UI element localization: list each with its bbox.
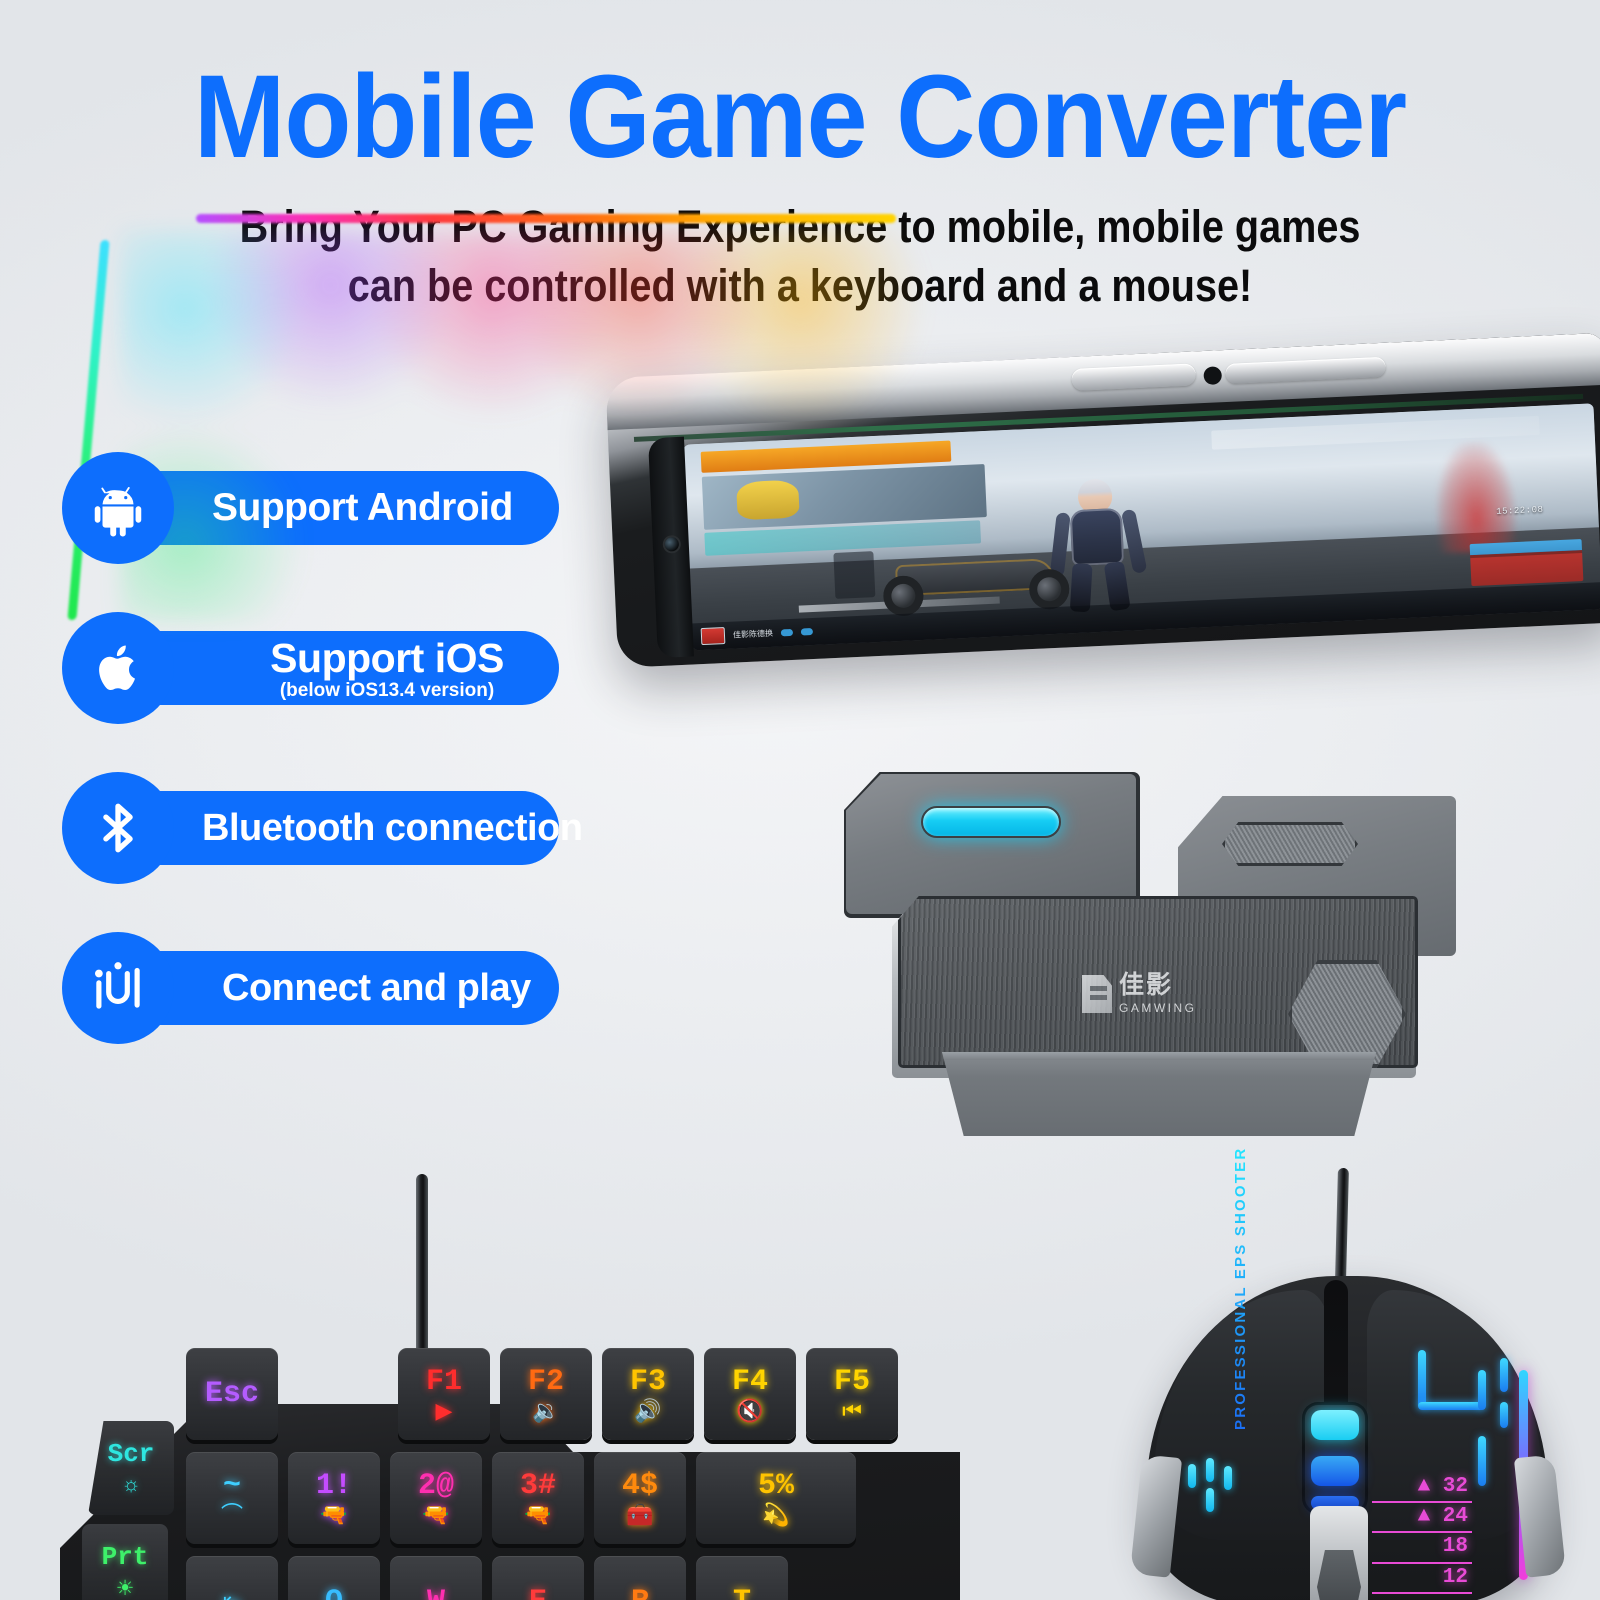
wheel-led-mid bbox=[1311, 1456, 1359, 1486]
key-label: Prt bbox=[102, 1542, 149, 1572]
status-toggle-1[interactable] bbox=[781, 629, 793, 637]
character-arm-right bbox=[1121, 509, 1148, 575]
key-label: ~ bbox=[223, 1471, 241, 1501]
feature-badge-ios[interactable]: Support iOS (below iOS13.4 version) bbox=[62, 612, 572, 724]
smartphone-product-photo: 15:22:08 佳影陈德换 bbox=[605, 333, 1600, 678]
mouse-dpi-scale: ▲ 32▲ 241812 bbox=[1372, 1473, 1472, 1594]
key-f5[interactable]: F5⏮ bbox=[806, 1348, 898, 1440]
key-function-icon: 🔫 bbox=[422, 1504, 449, 1526]
key-f3[interactable]: F3🔊 bbox=[602, 1348, 694, 1440]
key-function-icon: 🔉 bbox=[532, 1400, 559, 1422]
brightness-down-icon: ☼ bbox=[121, 1473, 140, 1497]
hex-mesh-vent-top-icon bbox=[1222, 822, 1358, 866]
key-label: 4$ bbox=[622, 1471, 658, 1501]
brightness-up-icon: ☀ bbox=[116, 1576, 135, 1600]
header: Mobile Game Converter Bring Your PC Gami… bbox=[0, 58, 1600, 315]
feature-badge-android[interactable]: Support Android bbox=[62, 452, 572, 564]
phone-screen: 15:22:08 佳影陈德换 bbox=[682, 403, 1600, 650]
key-print-screen[interactable]: Prt ☀ bbox=[82, 1524, 168, 1600]
key-3-[interactable]: 3#🔫 bbox=[492, 1452, 584, 1544]
key-label: Esc bbox=[205, 1379, 259, 1409]
brand-name-en: GAMWING bbox=[1119, 1001, 1197, 1015]
gaming-mouse: PROFESSIONAL EPS SHOOTER ▲ 32▲ 241812 bbox=[1128, 1180, 1568, 1600]
key-label: F2 bbox=[528, 1367, 564, 1397]
badge-pill bbox=[124, 951, 559, 1025]
buggy-wheel-right bbox=[1028, 569, 1070, 611]
dpi-button-inner bbox=[1317, 1550, 1361, 1600]
plug-and-play-icon bbox=[62, 932, 174, 1044]
feature-badge-list: Support Android Support iOS (below iOS13… bbox=[62, 452, 572, 1092]
wheel-led-top bbox=[1311, 1410, 1359, 1440]
key-function-icon: 🔇 bbox=[736, 1400, 763, 1422]
key-label: Q bbox=[325, 1587, 343, 1600]
dpi-scale-row: ▲ 32 bbox=[1372, 1473, 1472, 1503]
key-1-[interactable]: 1!🔫 bbox=[288, 1452, 380, 1544]
feature-badge-connect-and-play[interactable]: Connect and play bbox=[62, 932, 572, 1044]
mouse-dpi-button[interactable] bbox=[1310, 1506, 1368, 1600]
key-5-[interactable]: 5%💫 bbox=[696, 1452, 856, 1544]
brand-logo: 佳影 GAMWING bbox=[1082, 964, 1252, 1024]
key-function-icon: 🔊 bbox=[634, 1400, 661, 1422]
key-label: F5 bbox=[834, 1367, 870, 1397]
key-label: 3# bbox=[520, 1471, 556, 1501]
key-q[interactable]: Q bbox=[288, 1556, 380, 1600]
game-red-smoke bbox=[1433, 440, 1518, 554]
key-f2[interactable]: F2🔉 bbox=[500, 1348, 592, 1440]
feature-badge-bluetooth[interactable]: Bluetooth connection bbox=[62, 772, 572, 884]
key-e[interactable]: E bbox=[492, 1556, 584, 1600]
key-label: 5% bbox=[758, 1471, 794, 1501]
key-function-icon: 🔫 bbox=[320, 1504, 347, 1526]
game-supply-crate bbox=[1469, 539, 1583, 586]
key-function-icon: 💫 bbox=[762, 1504, 789, 1526]
key-blank[interactable]: ↹ bbox=[186, 1556, 278, 1600]
key-r[interactable]: R bbox=[594, 1556, 686, 1600]
key-label: R bbox=[631, 1587, 649, 1600]
rgb-light-strip-top bbox=[196, 214, 896, 223]
key-label: F4 bbox=[732, 1367, 768, 1397]
badge-pill bbox=[124, 631, 559, 705]
key-label: 2@ bbox=[418, 1471, 454, 1501]
key-label: F1 bbox=[426, 1367, 462, 1397]
key--[interactable]: ~⌒ bbox=[186, 1452, 278, 1544]
badge-pill bbox=[124, 791, 559, 865]
key-label: E bbox=[529, 1587, 547, 1600]
key-label: T bbox=[733, 1587, 751, 1600]
key-f1[interactable]: F1▶ bbox=[398, 1348, 490, 1440]
subtitle-line-1: Bring Your PC Gaming Experience to mobil… bbox=[96, 198, 1504, 257]
character-torso bbox=[1070, 508, 1124, 566]
brand-name-cn: 佳影 bbox=[1119, 973, 1197, 998]
key-label: F3 bbox=[630, 1367, 666, 1397]
status-led-indicator bbox=[921, 806, 1061, 838]
key-function-icon: 🔫 bbox=[524, 1504, 551, 1526]
mouse-led-dots-icon bbox=[1188, 1458, 1248, 1518]
key-label: Scr bbox=[108, 1439, 155, 1469]
bluetooth-icon bbox=[62, 772, 174, 884]
dpi-scale-row: 12 bbox=[1372, 1564, 1472, 1594]
key-f4[interactable]: F4🔇 bbox=[704, 1348, 796, 1440]
dpi-scale-row: 18 bbox=[1372, 1533, 1472, 1563]
badge-pill bbox=[124, 471, 559, 545]
converter-top-panel bbox=[846, 774, 1136, 914]
key-4-[interactable]: 4$🧰 bbox=[594, 1452, 686, 1544]
mouse-scroll-wheel[interactable] bbox=[1302, 1402, 1368, 1514]
mouse-side-text: PROFESSIONAL EPS SHOOTER bbox=[1232, 1147, 1249, 1430]
product-infographic: Mobile Game Converter Bring Your PC Gami… bbox=[0, 0, 1600, 1600]
android-robot-icon bbox=[62, 452, 174, 564]
key-function-icon: ▶ bbox=[436, 1400, 453, 1422]
key-label: 1! bbox=[316, 1471, 352, 1501]
key-function-icon: ⌒ bbox=[221, 1504, 243, 1526]
dpi-scale-row: ▲ 24 bbox=[1372, 1503, 1472, 1533]
key-function-icon: 🧰 bbox=[626, 1504, 653, 1526]
game-timer: 15:22:08 bbox=[1496, 505, 1544, 517]
key-w[interactable]: W bbox=[390, 1556, 482, 1600]
phone-body: 15:22:08 佳影陈德换 bbox=[605, 333, 1600, 668]
converter-front-face bbox=[942, 1052, 1376, 1136]
game-converter-device: 佳影 GAMWING bbox=[836, 756, 1456, 1136]
player-name: 佳影陈德换 bbox=[733, 628, 773, 641]
lobby-map-thumbnail bbox=[702, 464, 986, 530]
status-toggle-2[interactable] bbox=[801, 628, 813, 636]
brand-mark-icon bbox=[1082, 975, 1112, 1013]
key-esc[interactable]: Esc bbox=[186, 1348, 278, 1440]
game-lobby-card[interactable] bbox=[701, 437, 1034, 567]
apple-logo-icon bbox=[62, 612, 174, 724]
buggy-wheel-left bbox=[882, 575, 924, 617]
key-label: W bbox=[427, 1587, 445, 1600]
key-function-icon: ⏮ bbox=[842, 1400, 862, 1422]
page-title: Mobile Game Converter bbox=[56, 58, 1544, 176]
brand-text: 佳影 GAMWING bbox=[1119, 973, 1197, 1015]
key-2-[interactable]: 2@🔫 bbox=[390, 1452, 482, 1544]
key-function-icon: ↹ bbox=[223, 1593, 241, 1600]
subtitle-line-2: can be controlled with a keyboard and a … bbox=[96, 257, 1504, 316]
clan-emblem-icon bbox=[701, 627, 726, 645]
key-t[interactable]: T bbox=[696, 1556, 788, 1600]
